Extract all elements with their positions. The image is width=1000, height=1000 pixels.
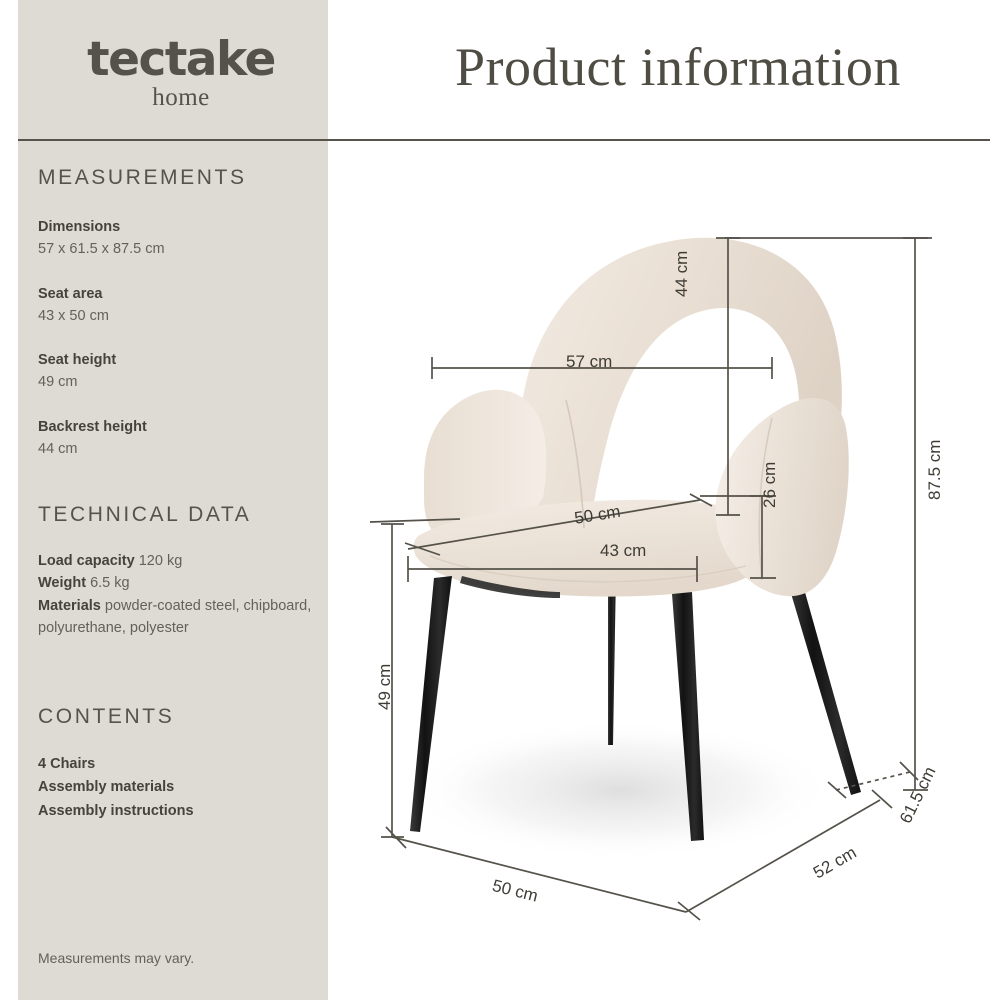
dimension-label-total-height: 87.5 cm — [925, 440, 945, 500]
dimension-label-seat-width: 43 cm — [600, 541, 646, 561]
leg-back-left — [608, 572, 616, 745]
dimension-label-seat-height: 49 cm — [375, 664, 395, 710]
dimension-label-armrest-height: 26 cm — [760, 462, 780, 508]
floor-shadow — [405, 720, 835, 860]
dim-tick-base-52-b — [872, 790, 892, 808]
dimension-label-width-top: 57 cm — [566, 352, 612, 372]
dimension-label-backrest-height: 44 cm — [672, 251, 692, 297]
